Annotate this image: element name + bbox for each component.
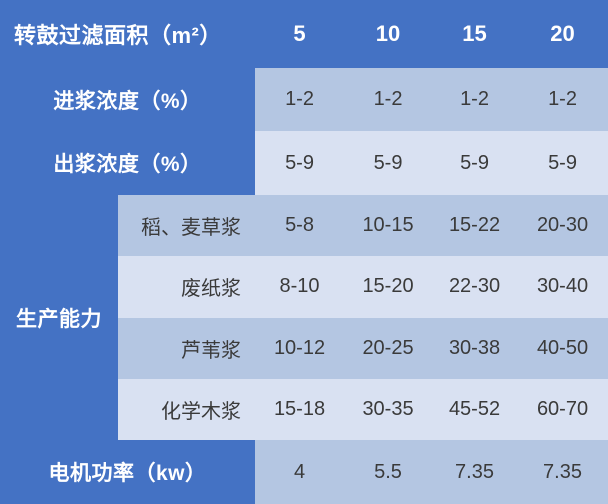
cell-inlet-4: 1-2 (517, 68, 608, 132)
table-row: 电机功率（kw） 4 5.5 7.35 7.35 (0, 440, 608, 504)
cell-waste-4: 30-40 (517, 256, 608, 317)
sublabel-chemical-wood-pulp: 化学木浆 (118, 379, 255, 440)
header-label: 转鼓过滤面积（m²） (0, 0, 255, 68)
cell-reed-2: 20-25 (344, 318, 432, 379)
cell-reed-1: 10-12 (255, 318, 344, 379)
group-label-production-capacity: 生产能力 (0, 195, 118, 441)
sublabel-straw-pulp: 稻、麦草浆 (118, 195, 255, 256)
header-col-1: 5 (255, 0, 344, 68)
cell-wood-1: 15-18 (255, 379, 344, 440)
specification-table: 转鼓过滤面积（m²） 5 10 15 20 进浆浓度（%） 1-2 1-2 1-… (0, 0, 608, 504)
row-label-outlet-consistency: 出浆浓度（%） (0, 131, 255, 195)
row-label-motor-power: 电机功率（kw） (0, 440, 255, 504)
cell-reed-3: 30-38 (432, 318, 517, 379)
cell-inlet-1: 1-2 (255, 68, 344, 132)
cell-outlet-1: 5-9 (255, 131, 344, 195)
row-label-inlet-consistency: 进浆浓度（%） (0, 68, 255, 132)
cell-wood-4: 60-70 (517, 379, 608, 440)
cell-waste-3: 22-30 (432, 256, 517, 317)
table-header-row: 转鼓过滤面积（m²） 5 10 15 20 (0, 0, 608, 68)
table-row: 出浆浓度（%） 5-9 5-9 5-9 5-9 (0, 131, 608, 195)
sublabel-waste-paper-pulp: 废纸浆 (118, 256, 255, 317)
cell-outlet-4: 5-9 (517, 131, 608, 195)
sublabel-reed-pulp: 芦苇浆 (118, 318, 255, 379)
cell-wood-3: 45-52 (432, 379, 517, 440)
cell-power-3: 7.35 (432, 440, 517, 504)
cell-power-4: 7.35 (517, 440, 608, 504)
cell-wood-2: 30-35 (344, 379, 432, 440)
cell-reed-4: 40-50 (517, 318, 608, 379)
header-col-3: 15 (432, 0, 517, 68)
cell-power-1: 4 (255, 440, 344, 504)
cell-inlet-3: 1-2 (432, 68, 517, 132)
cell-inlet-2: 1-2 (344, 68, 432, 132)
cell-waste-1: 8-10 (255, 256, 344, 317)
header-col-2: 10 (344, 0, 432, 68)
cell-power-2: 5.5 (344, 440, 432, 504)
table-row: 生产能力 稻、麦草浆 5-8 10-15 15-22 20-30 (0, 195, 608, 256)
table-row: 进浆浓度（%） 1-2 1-2 1-2 1-2 (0, 68, 608, 132)
cell-straw-2: 10-15 (344, 195, 432, 256)
header-col-4: 20 (517, 0, 608, 68)
cell-waste-2: 15-20 (344, 256, 432, 317)
cell-outlet-3: 5-9 (432, 131, 517, 195)
cell-straw-4: 20-30 (517, 195, 608, 256)
cell-straw-1: 5-8 (255, 195, 344, 256)
cell-outlet-2: 5-9 (344, 131, 432, 195)
cell-straw-3: 15-22 (432, 195, 517, 256)
